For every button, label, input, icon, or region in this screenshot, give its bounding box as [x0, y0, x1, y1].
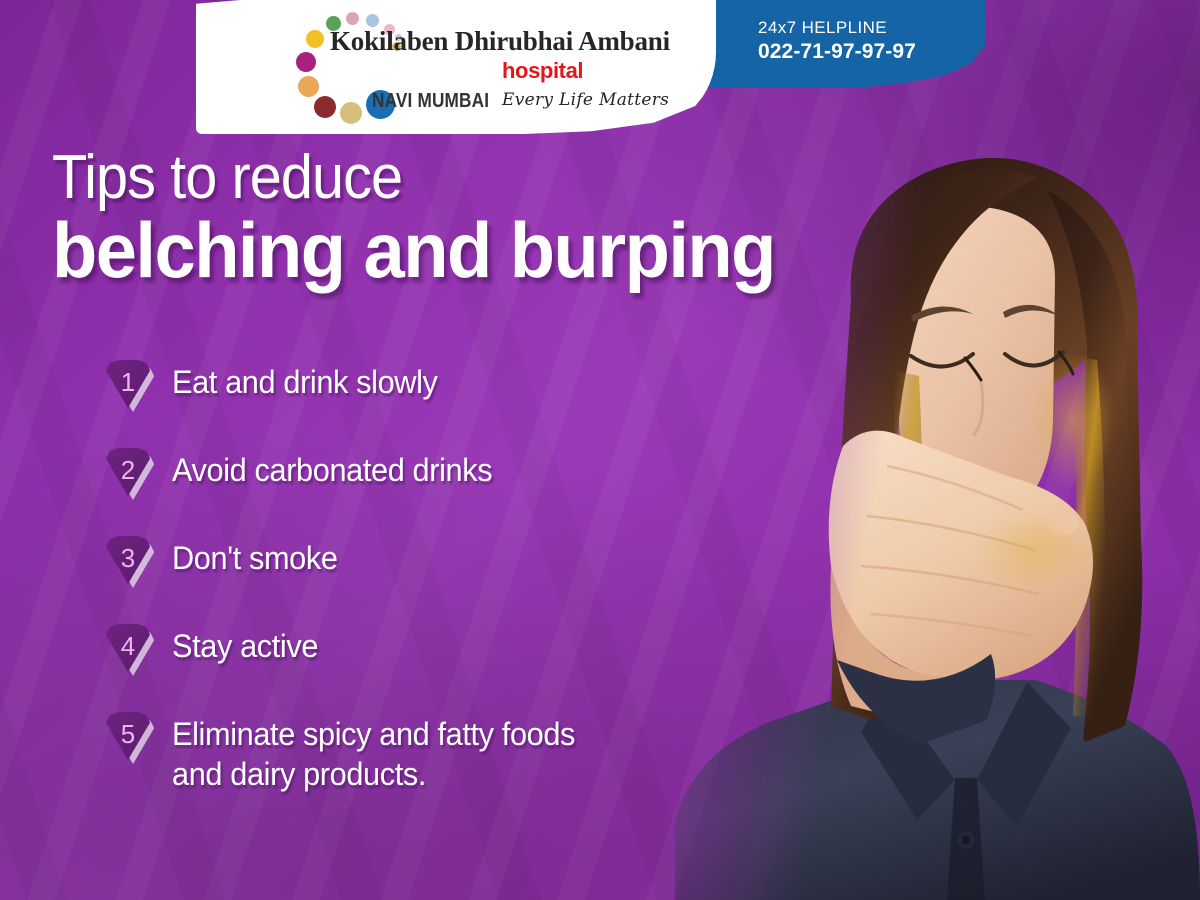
badge-number: 4 [104, 624, 152, 668]
logo-city: NAVI MUMBAI [372, 90, 489, 113]
tip-text-line-1: Eliminate spicy and fatty foods [172, 716, 575, 752]
logo-hospital-name: Kokilaben Dhirubhai Ambani [330, 26, 670, 57]
number-badge: 5 [104, 712, 156, 764]
logo-hospital-word: hospital [502, 58, 583, 84]
list-item: 3 Don't smoke [104, 534, 744, 596]
tip-text: Stay active [172, 622, 318, 666]
list-item: 1 Eat and drink slowly [104, 358, 744, 420]
title-line-1: Tips to reduce [52, 148, 760, 209]
number-badge: 3 [104, 536, 156, 588]
badge-number: 5 [104, 712, 152, 756]
badge-number: 1 [104, 360, 152, 404]
title-line-2: belching and burping [52, 211, 775, 289]
badge-number: 3 [104, 536, 152, 580]
tip-text-line-1: Avoid carbonated drinks [172, 452, 492, 488]
helpline-number[interactable]: 022-71-97-97-97 [758, 39, 985, 65]
tip-text: Avoid carbonated drinks [172, 446, 492, 490]
list-item: 5 Eliminate spicy and fatty foods and da… [104, 710, 744, 795]
hospital-logo: Kokilaben Dhirubhai Ambani hospital NAVI… [196, 0, 716, 134]
tip-text-line-1: Don't smoke [172, 540, 338, 576]
list-item: 4 Stay active [104, 622, 744, 684]
helpline-label: 24x7 HELPLINE [758, 18, 985, 39]
number-badge: 1 [104, 360, 156, 412]
tip-text: Don't smoke [172, 534, 338, 578]
tip-text: Eliminate spicy and fatty foods and dair… [172, 710, 575, 795]
logo-tagline: Every Life Matters [502, 90, 669, 110]
number-badge: 4 [104, 624, 156, 676]
number-badge: 2 [104, 448, 156, 500]
badge-number: 2 [104, 448, 152, 492]
tip-text-line-1: Eat and drink slowly [172, 364, 438, 400]
tip-text-line-2: and dairy products. [172, 754, 575, 794]
tip-text: Eat and drink slowly [172, 358, 438, 402]
tips-list: 1 Eat and drink slowly 2 Avoid carbonate… [104, 358, 744, 795]
list-item: 2 Avoid carbonated drinks [104, 446, 744, 508]
page-title: Tips to reduce belching and burping [52, 148, 813, 289]
tip-text-line-1: Stay active [172, 628, 318, 664]
infographic-poster: 24x7 HELPLINE 022-71-97-97-97 Kokilaben … [0, 0, 1200, 900]
